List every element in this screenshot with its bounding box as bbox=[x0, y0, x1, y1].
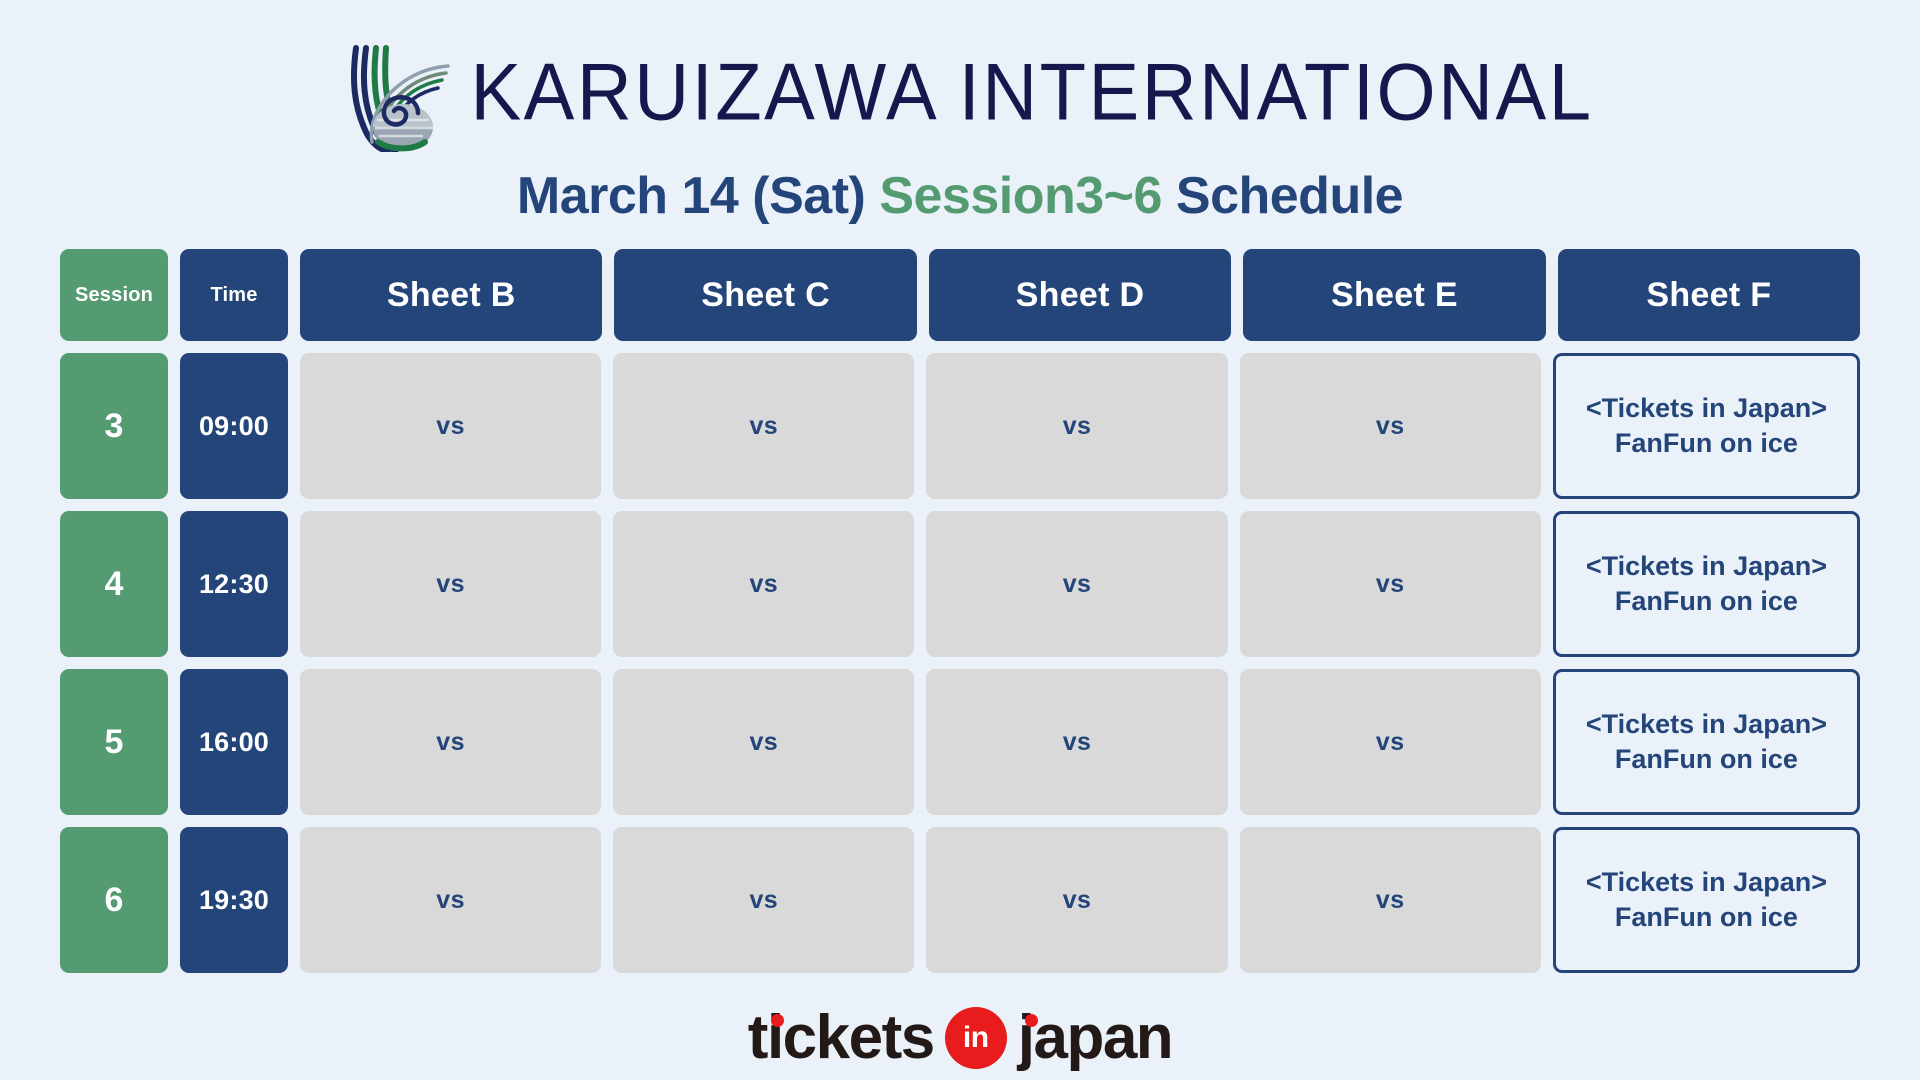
table-row: 3 09:00 vs vs vs vs <Tickets in Japan> F… bbox=[60, 353, 1860, 499]
brand-name: KARUIZAWA INTERNATIONAL bbox=[470, 53, 1593, 134]
session-number: 5 bbox=[60, 669, 168, 815]
promo-line-1: <Tickets in Japan> bbox=[1586, 549, 1827, 585]
promo-cell-sheet-f[interactable]: <Tickets in Japan> FanFun on ice bbox=[1553, 353, 1860, 499]
match-cell-sheet-b[interactable]: vs bbox=[300, 353, 601, 499]
header-sheet-b: Sheet B bbox=[300, 249, 602, 341]
in-badge-icon: in bbox=[945, 1007, 1007, 1069]
promo-line-2: FanFun on ice bbox=[1615, 742, 1798, 778]
match-cell-sheet-d[interactable]: vs bbox=[926, 827, 1227, 973]
table-row: 6 19:30 vs vs vs vs <Tickets in Japan> F… bbox=[60, 827, 1860, 973]
match-cell-sheet-e[interactable]: vs bbox=[1240, 511, 1541, 657]
promo-line-1: <Tickets in Japan> bbox=[1586, 707, 1827, 743]
brand-header: KARUIZAWA INTERNATIONAL bbox=[326, 34, 1593, 152]
header-sheet-f: Sheet F bbox=[1558, 249, 1860, 341]
title-date: March 14 (Sat) bbox=[517, 167, 865, 225]
footer-word-japan-text: japan bbox=[1018, 1003, 1172, 1072]
table-header-row: Session Time Sheet B Sheet C Sheet D She… bbox=[60, 249, 1860, 341]
tickets-in-japan-logo[interactable]: tickets in japan bbox=[748, 1003, 1172, 1073]
promo-line-2: FanFun on ice bbox=[1615, 426, 1798, 462]
title-suffix: Schedule bbox=[1176, 167, 1403, 225]
match-cell-sheet-b[interactable]: vs bbox=[300, 827, 601, 973]
match-cell-sheet-c[interactable]: vs bbox=[613, 827, 914, 973]
match-cell-sheet-c[interactable]: vs bbox=[613, 511, 914, 657]
match-cell-sheet-b[interactable]: vs bbox=[300, 511, 601, 657]
match-cell-sheet-d[interactable]: vs bbox=[926, 353, 1227, 499]
session-number: 6 bbox=[60, 827, 168, 973]
schedule-table: Session Time Sheet B Sheet C Sheet D She… bbox=[60, 249, 1860, 973]
header-sheet-d: Sheet D bbox=[929, 249, 1231, 341]
title-sessions: Session3~6 bbox=[879, 167, 1162, 225]
match-cell-sheet-b[interactable]: vs bbox=[300, 669, 601, 815]
session-time: 19:30 bbox=[180, 827, 288, 973]
tickets-i-dot-icon bbox=[771, 1014, 784, 1027]
promo-cell-sheet-f[interactable]: <Tickets in Japan> FanFun on ice bbox=[1553, 669, 1860, 815]
footer-word-japan: japan bbox=[1018, 1007, 1172, 1069]
schedule-poster: KARUIZAWA INTERNATIONAL March 14 (Sat) S… bbox=[0, 0, 1920, 1080]
match-cell-sheet-e[interactable]: vs bbox=[1240, 669, 1541, 815]
table-row: 4 12:30 vs vs vs vs <Tickets in Japan> F… bbox=[60, 511, 1860, 657]
promo-cell-sheet-f[interactable]: <Tickets in Japan> FanFun on ice bbox=[1553, 511, 1860, 657]
match-cell-sheet-c[interactable]: vs bbox=[613, 669, 914, 815]
session-number: 3 bbox=[60, 353, 168, 499]
session-number: 4 bbox=[60, 511, 168, 657]
match-cell-sheet-e[interactable]: vs bbox=[1240, 827, 1541, 973]
page-title: March 14 (Sat) Session3~6 Schedule bbox=[517, 168, 1403, 225]
promo-line-2: FanFun on ice bbox=[1615, 584, 1798, 620]
promo-cell-sheet-f[interactable]: <Tickets in Japan> FanFun on ice bbox=[1553, 827, 1860, 973]
match-cell-sheet-d[interactable]: vs bbox=[926, 669, 1227, 815]
session-time: 12:30 bbox=[180, 511, 288, 657]
japan-j-dot-icon bbox=[1025, 1014, 1038, 1027]
header-sheet-e: Sheet E bbox=[1243, 249, 1545, 341]
header-sheet-c: Sheet C bbox=[614, 249, 916, 341]
match-cell-sheet-e[interactable]: vs bbox=[1240, 353, 1541, 499]
header-session: Session bbox=[60, 249, 168, 341]
header-time: Time bbox=[180, 249, 288, 341]
match-cell-sheet-d[interactable]: vs bbox=[926, 511, 1227, 657]
session-time: 09:00 bbox=[180, 353, 288, 499]
table-row: 5 16:00 vs vs vs vs <Tickets in Japan> F… bbox=[60, 669, 1860, 815]
promo-line-1: <Tickets in Japan> bbox=[1586, 391, 1827, 427]
promo-line-2: FanFun on ice bbox=[1615, 900, 1798, 936]
session-time: 16:00 bbox=[180, 669, 288, 815]
match-cell-sheet-c[interactable]: vs bbox=[613, 353, 914, 499]
footer-word-tickets: tickets bbox=[748, 1007, 934, 1069]
karuizawa-curling-swoosh-logo-icon bbox=[326, 34, 454, 152]
promo-line-1: <Tickets in Japan> bbox=[1586, 865, 1827, 901]
